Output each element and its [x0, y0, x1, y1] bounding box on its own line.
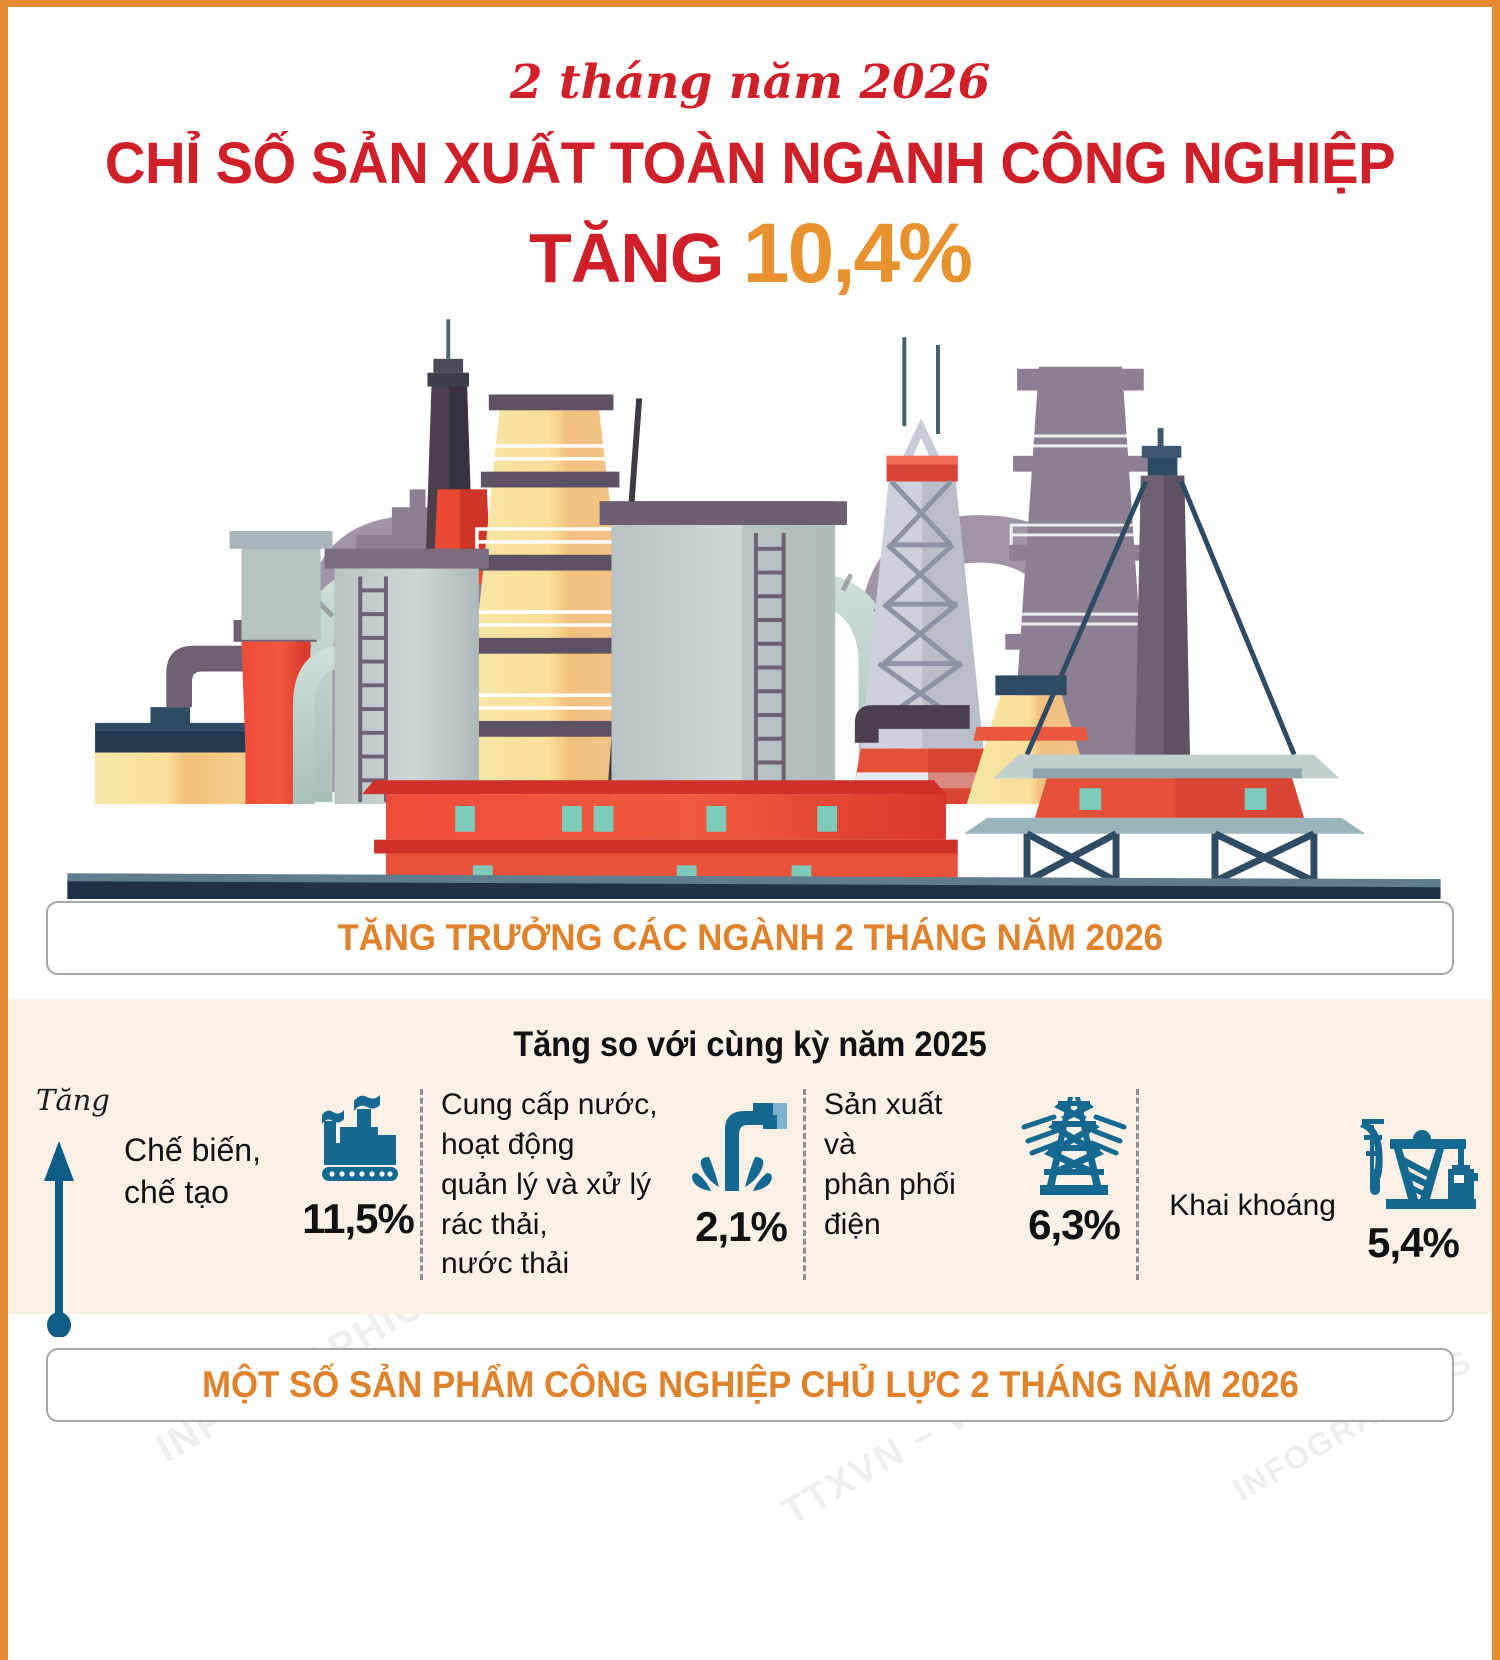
stat-figure: 5,4% [1348, 1101, 1478, 1267]
factory-illustration [8, 301, 1492, 901]
factory-scene-icon [8, 301, 1492, 901]
period-kicker: 2 tháng năm 2026 [8, 55, 1492, 110]
stat-value: 2,1% [695, 1203, 787, 1251]
headline-growth: TĂNG 10,4% [8, 211, 1492, 295]
section-banner-products-label: MỘT SỐ SẢN PHẨM CÔNG NGHIỆP CHỦ LỰC 2 TH… [202, 1364, 1299, 1406]
stat-che-bien-che-tao: Chế biến, chế tạo [120, 1083, 420, 1284]
bottom-banner-wrap: MỘT SỐ SẢN PHẨM CÔNG NGHIỆP CHỦ LỰC 2 TH… [8, 1348, 1492, 1422]
stat-label: Cung cấp nước, hoạt động quản lý và xử l… [441, 1083, 685, 1284]
factory-icon-glyph [302, 1087, 414, 1191]
direction-column: Tăng [8, 1083, 120, 1284]
up-arrow-icon [42, 1137, 76, 1337]
stat-khai-khoang: Khai khoáng [1139, 1083, 1484, 1284]
infographic-page: INFOGRAPHICS TTXVN – VNA INFOGRAPHICS TT… [0, 0, 1500, 1660]
oil-pump-icon-glyph [1348, 1111, 1478, 1215]
stat-label: Khai khoáng [1169, 1142, 1348, 1226]
stat-figure: 2,1% [685, 1083, 797, 1251]
stats-band: Tăng so với cùng kỳ năm 2025 Tăng Chế bi… [8, 999, 1492, 1314]
stat-san-xuat-phan-phoi-dien: Sản xuất và phân phối điện [806, 1083, 1136, 1284]
stat-label: Sản xuất và phân phối điện [824, 1083, 1018, 1245]
header: 2 tháng năm 2026 CHỈ SỐ SẢN XUẤT TOÀN NG… [8, 7, 1492, 295]
growth-word: TĂNG [529, 219, 723, 297]
factory-icon [302, 1087, 414, 1191]
growth-value: 10,4% [743, 206, 971, 300]
stat-cung-cap-nuoc: Cung cấp nước, hoạt động quản lý và xử l… [423, 1083, 803, 1284]
stats-band-title: Tăng so với cùng kỳ năm 2025 [60, 1025, 1440, 1065]
stat-value: 5,4% [1367, 1219, 1459, 1267]
direction-label: Tăng [24, 1083, 120, 1117]
arrow-up-icon [42, 1137, 76, 1337]
section-banner-growth: TĂNG TRƯỞNG CÁC NGÀNH 2 THÁNG NĂM 2026 [46, 901, 1454, 975]
section-banner-products: MỘT SỐ SẢN PHẨM CÔNG NGHIỆP CHỦ LỰC 2 TH… [46, 1348, 1454, 1422]
faucet-icon-glyph [685, 1095, 797, 1199]
stat-value: 6,3% [1028, 1201, 1120, 1249]
stat-label: Chế biến, chế tạo [124, 1083, 302, 1214]
oil-pump-icon [1348, 1111, 1478, 1215]
section-banner-growth-label: TĂNG TRƯỞNG CÁC NGÀNH 2 THÁNG NĂM 2026 [337, 917, 1163, 959]
stat-figure: 11,5% [302, 1083, 414, 1243]
stat-figure: 6,3% [1018, 1083, 1130, 1249]
power-pylon-icon-glyph [1018, 1093, 1130, 1197]
faucet-icon [685, 1095, 797, 1199]
power-pylon-icon [1018, 1093, 1130, 1197]
page-title: CHỈ SỐ SẢN XUẤT TOÀN NGÀNH CÔNG NGHIỆP [30, 134, 1469, 195]
stats-row: Tăng Chế biến, chế tạo [8, 1083, 1492, 1284]
stat-value: 11,5% [302, 1195, 414, 1243]
